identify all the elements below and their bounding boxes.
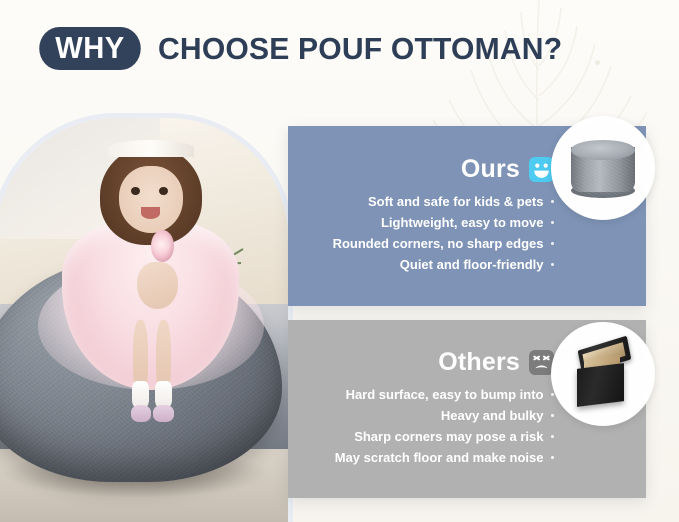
bullet-dot-icon [551, 414, 555, 418]
bullet-dot-icon [551, 263, 555, 267]
others-bullet-list: Hard surface, easy to bump into Heavy an… [306, 384, 554, 468]
bullet-text: Soft and safe for kids & pets [368, 191, 544, 212]
mouth [141, 207, 160, 219]
bullet-dot-icon [551, 393, 555, 397]
left-eye [131, 187, 140, 196]
list-item: Lightweight, easy to move [306, 212, 554, 233]
dress-rosette [151, 230, 174, 262]
header: WHY CHOOSE POUF OTTOMAN? [36, 27, 575, 70]
bullet-text: Hard surface, easy to bump into [346, 384, 544, 405]
bullet-text: Sharp corners may pose a risk [354, 426, 543, 447]
list-item: Heavy and bulky [306, 405, 554, 426]
headband [108, 140, 194, 157]
arms [137, 262, 177, 309]
left-sock [132, 381, 149, 407]
right-sock [155, 381, 172, 407]
right-shoe [153, 405, 173, 422]
bullet-text: Rounded corners, no sharp edges [333, 233, 544, 254]
bullet-dot-icon [551, 435, 555, 439]
bullet-dot-icon [551, 221, 555, 225]
lifestyle-photo [0, 118, 288, 522]
list-item: Soft and safe for kids & pets [306, 191, 554, 212]
face [119, 166, 183, 233]
list-item: Sharp corners may pose a risk [306, 426, 554, 447]
black-square-storage-box-ottoman-icon [556, 327, 650, 421]
why-badge: WHY [39, 27, 140, 70]
infographic-canvas: WHY CHOOSE POUF OTTOMAN? [0, 0, 679, 522]
others-product-image [551, 322, 655, 426]
bullet-dot-icon [551, 242, 555, 246]
bullet-dot-icon [551, 200, 555, 204]
ours-title-row: Ours [306, 157, 554, 182]
ours-product-image [551, 116, 655, 220]
gray-round-pouf-ottoman-icon [556, 121, 650, 215]
page-title: CHOOSE POUF OTTOMAN? [158, 33, 562, 64]
bullet-text: May scratch floor and make noise [335, 447, 544, 468]
others-title-row: Others [306, 350, 554, 375]
others-title: Others [438, 350, 520, 375]
bullet-text: Quiet and floor-friendly [400, 254, 544, 275]
list-item: Hard surface, easy to bump into [306, 384, 554, 405]
child-model [84, 134, 218, 425]
photo-scene [0, 118, 288, 522]
left-shoe [131, 405, 151, 422]
bullet-text: Heavy and bulky [441, 405, 544, 426]
list-item: May scratch floor and make noise [306, 447, 554, 468]
bullet-dot-icon [551, 456, 555, 460]
list-item: Rounded corners, no sharp edges [306, 233, 554, 254]
box-base [577, 364, 624, 407]
list-item: Quiet and floor-friendly [306, 254, 554, 275]
ours-title: Ours [461, 157, 520, 182]
bullet-text: Lightweight, easy to move [381, 212, 544, 233]
ours-bullet-list: Soft and safe for kids & pets Lightweigh… [306, 191, 554, 275]
